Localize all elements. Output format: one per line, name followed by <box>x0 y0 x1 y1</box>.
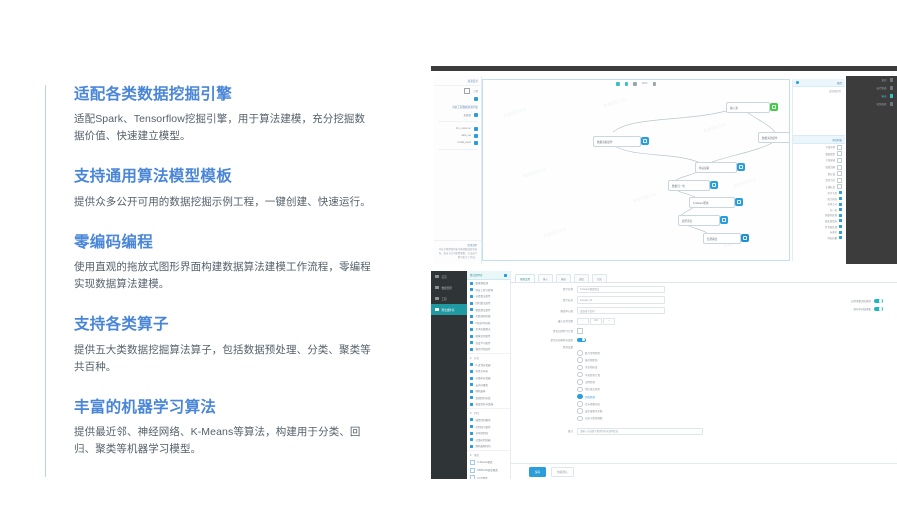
form-footer: 保存 恢复默认 <box>511 463 897 479</box>
field-label: 缺失值填充 <box>825 219 837 223</box>
tree-group-header[interactable]: 回归 <box>467 408 510 417</box>
radio-label: 马氏距离计算 <box>585 373 600 377</box>
home-icon <box>435 275 439 279</box>
flow-node-label: 数据读取组件 <box>597 140 613 144</box>
tree-item[interactable]: 时间序列分析 <box>467 320 510 327</box>
console-row-label: 任务监控 <box>876 102 886 106</box>
tab-log[interactable]: 日志 <box>592 274 607 282</box>
field-label: 统计指标 <box>827 197 837 201</box>
feature-item: 丰富的机器学习算法 提供最近邻、神经网络、K-Means等算法，构建用于分类、回… <box>74 398 385 458</box>
component-icon <box>470 282 473 285</box>
field-label: 最大迭代次数 <box>511 319 577 323</box>
tree-item[interactable]: 回归算法组件 <box>467 300 510 307</box>
table-icon <box>474 113 478 117</box>
feature-description: 提供众多公开可用的数据挖掘示例工程，一键创建、快速运行。 <box>74 194 374 211</box>
tree-item-label: 决策树回归器 <box>476 438 491 442</box>
console-panel: 日志 运行状态 输出 任务监控 <box>846 76 897 264</box>
field-row[interactable]: 字段名称 <box>793 144 845 151</box>
save-intermediate-toggle[interactable] <box>874 307 883 312</box>
tree-item[interactable]: 岭回归与套索 <box>467 423 510 430</box>
divider <box>438 121 477 122</box>
tree-item-label: 逻辑回归分类 <box>476 396 491 400</box>
tree-item-label: 数据预处理 <box>476 281 489 285</box>
field-label: 是否自动推断分类数 <box>511 338 577 342</box>
stepper-decrement[interactable]: - <box>577 318 589 326</box>
component-icon <box>470 341 473 344</box>
tree-item-label: K-近邻分类器 <box>476 363 491 367</box>
resource-sidebar-header: 资源目录 <box>434 76 481 86</box>
resource-sidebar-footer: 使用说明 可在左侧资源列表中拖拽数据表至画布，双击节点可配置参数，点击运行即可执… <box>434 240 481 260</box>
checkbox-icon[interactable] <box>837 151 842 156</box>
start-icon <box>770 103 778 111</box>
field-label: 是否启用并行计算 <box>511 329 577 333</box>
tree-item-label: 线性回归模型 <box>476 418 491 422</box>
checkbox-icon[interactable] <box>839 214 842 217</box>
table-icon <box>474 127 478 131</box>
tab-schedule[interactable]: 调度 <box>574 274 589 282</box>
checkbox-icon[interactable] <box>839 191 842 194</box>
distance-metric-options: 欧几里得距离 曼哈顿距离 余弦相似度 马氏距离计算 汉明距离 切比雪夫距离 闵氏… <box>511 349 897 422</box>
field-row[interactable]: 是否为空 <box>793 177 845 184</box>
resource-item[interactable]: model_bank <box>434 139 481 146</box>
tree-item-label: 支持向量机 <box>476 383 489 387</box>
radio-label: 自定义距离函数 <box>585 416 603 420</box>
console-row[interactable]: 任务监控 <box>846 100 897 108</box>
save-button[interactable]: 保存 <box>529 467 546 477</box>
chevron-right-icon <box>470 357 472 359</box>
tree-item-label: 岭回归与套索 <box>476 425 491 429</box>
radio-icon <box>577 408 583 414</box>
operator-id-input[interactable]: kmeans_01 <box>577 296 665 304</box>
component-icon <box>470 370 473 373</box>
tree-item[interactable]: 文本挖掘算法 <box>467 326 510 333</box>
checkbox-icon[interactable] <box>839 225 842 228</box>
field-row[interactable]: 字段描述 <box>793 157 845 164</box>
tree-item[interactable]: 随机森林回归 <box>467 443 510 450</box>
tree-item[interactable]: 支持向量机 <box>467 381 510 388</box>
radio-label: 曼哈顿距离 <box>585 358 598 362</box>
radio-icon <box>577 365 583 371</box>
field-parallel-compute: 是否启用并行计算 <box>511 327 897 336</box>
tree-item[interactable]: K-近邻分类器 <box>467 362 510 369</box>
field-row[interactable]: 特征权重 <box>793 235 845 240</box>
monitor-icon <box>890 102 894 106</box>
checkbox-icon[interactable] <box>837 178 842 183</box>
field-max-iterations: 最大迭代次数 - 100 + <box>511 316 897 327</box>
tree-item-label: 随机森林回归 <box>476 444 491 448</box>
resource-item-label: data_set <box>461 134 471 137</box>
radio-option[interactable]: 汉明距离 <box>577 378 897 385</box>
flow-node[interactable]: 结果输出 <box>703 233 741 244</box>
checkbox-icon[interactable] <box>839 208 842 211</box>
parallel-compute-checkbox[interactable] <box>577 328 583 334</box>
feature-description: 提供最近邻、神经网络、K-Means等算法，构建用于分类、回归、聚类等机器学习模… <box>74 424 374 458</box>
component-icon <box>470 418 473 421</box>
radio-option[interactable]: 欧几里得距离 <box>577 349 897 356</box>
component-icon <box>470 348 473 351</box>
tree-item[interactable]: 多项式回归 <box>467 430 510 437</box>
tree-group-label: 分类 <box>474 356 479 360</box>
radio-option[interactable]: 余弦相似度 <box>577 364 897 371</box>
radio-option[interactable]: 闵氏距离 <box>577 393 897 400</box>
component-icon <box>470 438 473 441</box>
tree-item-label: 特征工程与转换 <box>476 288 494 292</box>
field-label: 取值范围 <box>825 165 835 169</box>
toggle-row: 启用增量训练模式 <box>851 297 883 305</box>
nav-item-data[interactable]: 数据管理 <box>431 282 467 293</box>
nav-item-algorithms[interactable]: 算法组件库 <box>431 304 467 315</box>
algorithm-tree-header: 算法组件库 <box>467 271 510 280</box>
table-icon <box>474 134 478 138</box>
tree-item[interactable]: 特征工程与转换 <box>467 287 510 294</box>
resource-selected-folder[interactable] <box>434 95 481 102</box>
tree-item[interactable]: 层次聚类 <box>467 474 510 479</box>
feature-title: 支持通用算法模型模板 <box>74 167 385 186</box>
radio-icon <box>577 372 583 378</box>
tree-item-label: DBSCAN密度聚类 <box>478 468 498 472</box>
nav-item-label: 首页 <box>442 275 447 279</box>
radio-label: 皮尔逊相关系数 <box>585 409 603 413</box>
field-label: 离散化处理 <box>825 213 837 217</box>
flow-node-label: 数据清洗组件 <box>762 136 778 140</box>
table-icon <box>474 141 478 145</box>
field-row[interactable]: 默认值 <box>793 170 845 177</box>
note-input[interactable]: 请输入对该算子配置的补充说明信息 <box>577 428 703 436</box>
resource-section-label: 当前工程数据资源列表 <box>434 102 481 111</box>
tree-item[interactable]: 图像识别组件 <box>467 333 510 340</box>
tree-item-label: 多项式回归 <box>476 431 489 435</box>
feature-title: 适配各类数据挖掘引擎 <box>74 85 385 104</box>
tree-item[interactable]: 关联规则挖掘 <box>467 313 510 320</box>
field-label: 归一化 <box>830 208 837 212</box>
right-toggle-group: 启用增量训练模式 保存中间结果集 <box>851 297 883 313</box>
tree-item-label: 模型评估组件 <box>476 347 491 351</box>
tree-item-label: 随机森林 <box>476 389 486 393</box>
resource-project-row[interactable]: 工程 <box>434 86 481 95</box>
radio-option[interactable]: 曼哈顿距离 <box>577 357 897 364</box>
resource-sidebar: 资源目录 工程 当前工程数据资源列表 表数据 iris_customer dat… <box>434 76 482 264</box>
properties-empty-hint: 请选择组件 <box>793 87 845 95</box>
properties-panel: 属性 请选择组件 字段列表 字段名称 数据类型 字段描述 取值范围 默认值 是否… <box>792 79 845 261</box>
tree-item[interactable]: 聚类算法组件 <box>467 306 510 313</box>
output-icon <box>741 234 749 242</box>
component-icon <box>470 335 473 338</box>
tab-label: 输出 <box>561 278 566 281</box>
flow-node-label: 输入源 <box>730 106 738 110</box>
radio-icon <box>577 416 583 422</box>
component-icon <box>470 445 473 448</box>
feature-title: 丰富的机器学习算法 <box>74 398 385 417</box>
checkbox-icon[interactable] <box>837 171 842 176</box>
component-icon <box>710 181 718 189</box>
radio-option[interactable]: 自定义距离函数 <box>577 415 897 422</box>
checkbox-icon[interactable] <box>839 197 842 200</box>
component-icon <box>720 216 728 224</box>
tab-label: 输入 <box>543 278 548 281</box>
resource-project-label: 工程 <box>473 89 478 93</box>
radio-label: 闵氏距离 <box>585 395 595 399</box>
tree-item-label: 关联规则挖掘 <box>476 314 491 318</box>
tree-item-label: 图像识别组件 <box>476 334 491 338</box>
radio-icon <box>577 394 583 400</box>
tree-item[interactable]: 决策树分类器 <box>467 375 510 382</box>
tree-item[interactable]: 逻辑回归分类 <box>467 395 510 402</box>
flow-canvas[interactable]: 数据挖掘平台 数据挖掘平台 数据挖掘平台 数据挖掘平台 数据挖掘平台 数据挖掘平… <box>482 79 790 261</box>
resource-item-label: 表数据 <box>463 113 471 117</box>
component-icon <box>470 383 473 386</box>
feature-title: 支持各类算子 <box>74 315 385 334</box>
resource-item[interactable]: 表数据 <box>434 111 481 118</box>
tree-item-label: 深度学习组件 <box>476 341 491 345</box>
radio-label: 杰卡德相似度 <box>585 402 600 406</box>
field-label: 算子名称 <box>511 287 577 291</box>
algorithm-config-screenshot: 首页 数据管理 工程 算法组件库 算法组件库 数据预处理 特征工程与转换 分类算… <box>431 271 897 479</box>
field-label: 数据类型 <box>825 152 835 156</box>
radio-icon <box>577 401 583 407</box>
feature-list: 适配各类数据挖掘引擎 适配Spark、Tensorflow挖掘引擎，用于算法建模… <box>45 85 385 477</box>
flow-node-label: 数据归一化 <box>672 184 685 188</box>
field-label: 备注 <box>511 429 577 433</box>
main-nav: 首页 数据管理 工程 算法组件库 <box>431 271 467 479</box>
component-icon <box>470 425 473 428</box>
field-label: 距离度量 <box>511 345 577 349</box>
resource-item-label: model_bank <box>457 141 471 144</box>
tree-item-label: 朴素贝叶斯 <box>476 369 489 373</box>
tree-group-header[interactable]: 分类 <box>467 353 510 362</box>
field-label: 聚类中心数 <box>511 309 577 313</box>
tab-label: 日志 <box>597 278 602 281</box>
feature-description: 使用直观的拖放式图形界面构建数据算法建模工作流程，零编程实现数据算法建模。 <box>74 259 374 293</box>
field-cluster-count: 聚类中心数 请选择字段列 <box>511 305 897 316</box>
radio-icon <box>577 387 583 393</box>
resource-item[interactable]: iris_customer <box>434 125 481 132</box>
status-icon <box>890 86 894 90</box>
toggle-label: 保存中间结果集 <box>853 307 871 311</box>
field-label: 默认值 <box>828 172 835 176</box>
checkbox-icon[interactable] <box>839 236 842 239</box>
component-icon <box>470 315 473 318</box>
workflow-app-body: 资源目录 工程 当前工程数据资源列表 表数据 iris_customer dat… <box>431 71 897 264</box>
component-icon <box>470 302 473 305</box>
field-note: 备注 请输入对该算子配置的补充说明信息 <box>511 426 897 437</box>
tree-item[interactable]: 模型评估组件 <box>467 346 510 353</box>
console-row-label: 日志 <box>881 78 886 82</box>
radio-option[interactable]: 杰卡德相似度 <box>577 400 897 407</box>
field-label: 字段描述 <box>825 158 835 162</box>
radio-label: 欧几里得距离 <box>585 351 600 355</box>
field-auto-infer: 是否自动推断分类数 <box>511 336 897 344</box>
field-label: 标准化 <box>830 230 837 234</box>
field-label: 索引字段 <box>827 191 837 195</box>
component-icon <box>470 321 473 324</box>
checkbox-icon[interactable] <box>837 145 842 150</box>
field-label: 特征权重 <box>827 236 837 240</box>
tree-item[interactable]: 朴素贝叶斯 <box>467 368 510 375</box>
console-row[interactable]: 运行状态 <box>846 84 897 92</box>
operator-name-input[interactable]: K-Means聚类算法 <box>577 286 665 294</box>
chevron-right-icon <box>470 454 472 456</box>
tab-output[interactable]: 输出 <box>556 274 571 282</box>
radio-option[interactable]: 皮尔逊相关系数 <box>577 407 897 414</box>
flow-node-label: 特征提取 <box>699 166 709 170</box>
auto-infer-toggle[interactable] <box>577 338 586 343</box>
tree-item[interactable]: 随机森林 <box>467 388 510 395</box>
database-icon <box>435 286 439 290</box>
nav-item-label: 数据管理 <box>442 286 452 290</box>
folder-icon <box>474 97 478 101</box>
checkbox-icon[interactable] <box>470 460 475 465</box>
parameter-form: 参数设置 输入 输出 调度 日志 算子名称 K-Means聚类算法 算子标识 k… <box>510 271 897 479</box>
radio-icon <box>577 350 583 356</box>
flow-node-label: 模型评估 <box>682 219 692 223</box>
nav-item-label: 工程 <box>442 297 447 301</box>
component-icon <box>470 403 473 406</box>
tree-item[interactable]: 梯度提升分类器 <box>467 401 510 408</box>
field-operator-id: 算子标识 kmeans_01 <box>511 295 897 306</box>
feature-item: 支持各类算子 提供五大类数据挖掘算法算子，包括数据预处理、分类、聚类等共百种。 <box>74 315 385 375</box>
console-row-label: 运行状态 <box>876 86 886 90</box>
tab-input[interactable]: 输入 <box>538 274 553 282</box>
field-label: 异常值处理 <box>825 225 837 229</box>
max-iterations-stepper[interactable]: - 100 + <box>577 318 615 326</box>
field-list: 字段名称 数据类型 字段描述 取值范围 默认值 是否为空 主键标识 索引字段 统… <box>793 144 845 240</box>
tree-item-label: 时间序列分析 <box>476 321 491 325</box>
checkbox-icon[interactable] <box>839 203 842 206</box>
resource-item-label: iris_customer <box>456 127 471 130</box>
tab-label: 参数设置 <box>520 278 530 281</box>
tree-item[interactable]: 决策树回归器 <box>467 436 510 443</box>
flow-node-label: K-Means聚类 <box>693 201 709 205</box>
field-label: 是否为空 <box>825 178 835 182</box>
radio-label: 汉明距离 <box>585 380 595 384</box>
checkbox-icon[interactable] <box>839 219 842 222</box>
checkbox-icon[interactable] <box>839 231 842 234</box>
toggle-row: 保存中间结果集 <box>851 305 883 313</box>
tree-item-label: 决策树分类器 <box>476 376 491 380</box>
component-icon <box>641 137 649 145</box>
field-row[interactable]: 主键标识 <box>793 184 845 191</box>
incremental-training-toggle[interactable] <box>874 299 883 304</box>
checkbox-icon[interactable] <box>470 468 475 473</box>
form-tabs: 参数设置 输入 输出 调度 日志 <box>511 271 897 283</box>
project-icon <box>435 297 439 301</box>
resource-item[interactable]: data_set <box>434 132 481 139</box>
tree-item-label: 梯度提升分类器 <box>476 402 494 406</box>
field-row[interactable]: 取值范围 <box>793 164 845 171</box>
console-row-label: 输出 <box>881 94 886 98</box>
tree-item-label: 聚类算法组件 <box>476 308 491 312</box>
form-fields: 算子名称 K-Means聚类算法 算子标识 kmeans_01 聚类中心数 请选… <box>511 284 897 463</box>
log-icon <box>890 78 894 82</box>
tree-item[interactable]: 线性回归模型 <box>467 417 510 424</box>
component-icon <box>737 163 745 171</box>
feature-item: 零编码编程 使用直观的拖放式图形界面构建数据算法建模工作流程，零编程实现数据算法… <box>74 233 385 293</box>
flow-node[interactable]: 数据归一化 <box>668 180 710 191</box>
output-icon <box>890 94 894 98</box>
flow-node[interactable]: 数据清洗组件 <box>758 132 790 143</box>
radio-icon <box>577 379 583 385</box>
tree-item-label: 回归算法组件 <box>476 301 491 305</box>
flow-node[interactable]: 数据读取组件 <box>593 136 641 147</box>
field-row[interactable]: 数据类型 <box>793 151 845 158</box>
properties-panel-header: 属性 <box>793 79 845 87</box>
checkbox-icon[interactable] <box>837 165 842 170</box>
tree-item-label: K-Means聚类 <box>478 460 493 464</box>
toggle-label: 启用增量训练模式 <box>851 299 871 303</box>
tree-group-label: 聚类 <box>474 453 479 457</box>
field-label: 采样方式 <box>827 202 837 206</box>
component-icon <box>470 328 473 331</box>
divider <box>438 149 477 150</box>
component-icon <box>470 377 473 380</box>
stepper-increment[interactable]: + <box>603 318 615 326</box>
workflow-canvas-screenshot: 资源目录 工程 当前工程数据资源列表 表数据 iris_customer dat… <box>431 66 897 264</box>
nav-item-home[interactable]: 首页 <box>431 271 467 282</box>
tree-item[interactable]: 数据预处理 <box>467 280 510 287</box>
flow-node[interactable]: 特征提取 <box>695 162 737 173</box>
restore-defaults-button[interactable]: 恢复默认 <box>551 467 573 477</box>
component-icon <box>470 288 473 291</box>
flow-node[interactable]: 输入源 <box>726 102 770 113</box>
footer-text: 可在左侧资源列表中拖拽数据表至画布，双击节点可配置参数，点击运行即可执行工作流。 <box>438 248 477 260</box>
checkbox-icon[interactable] <box>470 475 475 479</box>
algorithm-tree: 算法组件库 数据预处理 特征工程与转换 分类算法组件 回归算法组件 聚类算法组件… <box>467 271 511 479</box>
radio-option[interactable]: 马氏距离计算 <box>577 371 897 378</box>
radio-option[interactable]: 切比雪夫距离 <box>577 386 897 393</box>
nav-item-label: 算法组件库 <box>442 308 455 312</box>
tree-item-label: 分类算法组件 <box>476 294 491 298</box>
flow-node-label: 结果输出 <box>707 237 717 241</box>
tree-item-label: 层次聚类 <box>478 476 488 479</box>
chevron-right-icon <box>470 412 472 414</box>
field-list-header: 字段列表 <box>793 135 845 144</box>
feature-item: 适配各类数据挖掘引擎 适配Spark、Tensorflow挖掘引擎，用于算法建模… <box>74 85 385 145</box>
tab-label: 调度 <box>579 278 584 281</box>
flow-node[interactable]: K-Means聚类 <box>689 197 735 208</box>
tree-group-label: 回归 <box>474 411 479 415</box>
cluster-count-select[interactable]: 请选择字段列 <box>577 307 665 315</box>
component-icon <box>470 295 473 298</box>
radio-label: 余弦相似度 <box>585 365 598 369</box>
component-icon <box>470 390 473 393</box>
properties-panel-title: 属性 <box>837 81 842 85</box>
settings-icon[interactable] <box>796 81 799 84</box>
tree-group-header[interactable]: 聚类 <box>467 450 510 459</box>
flow-node[interactable]: 模型评估 <box>678 215 720 226</box>
folder-icon <box>464 88 470 94</box>
checkbox-icon[interactable] <box>837 184 842 189</box>
tab-parameters[interactable]: 参数设置 <box>515 274 535 282</box>
tree-item[interactable]: K-Means聚类 <box>467 459 510 467</box>
checkbox-icon[interactable] <box>837 158 842 163</box>
nav-item-project[interactable]: 工程 <box>431 293 467 304</box>
tree-item[interactable]: 深度学习组件 <box>467 339 510 346</box>
search-icon[interactable] <box>504 274 507 277</box>
tree-item-label: 文本挖掘算法 <box>476 327 491 331</box>
tree-item[interactable]: 分类算法组件 <box>467 293 510 300</box>
console-row[interactable]: 输出 <box>846 92 897 100</box>
component-icon <box>470 396 473 399</box>
feature-description: 提供五大类数据挖掘算法算子，包括数据预处理、分类、聚类等共百种。 <box>74 342 374 376</box>
console-row[interactable]: 日志 <box>846 76 897 84</box>
feature-title: 零编码编程 <box>74 233 385 252</box>
algorithm-icon <box>435 308 439 312</box>
stepper-value[interactable]: 100 <box>590 318 602 326</box>
component-icon <box>470 432 473 435</box>
component-icon <box>470 363 473 366</box>
tree-item[interactable]: DBSCAN密度聚类 <box>467 466 510 474</box>
field-label: 算子标识 <box>511 298 577 302</box>
